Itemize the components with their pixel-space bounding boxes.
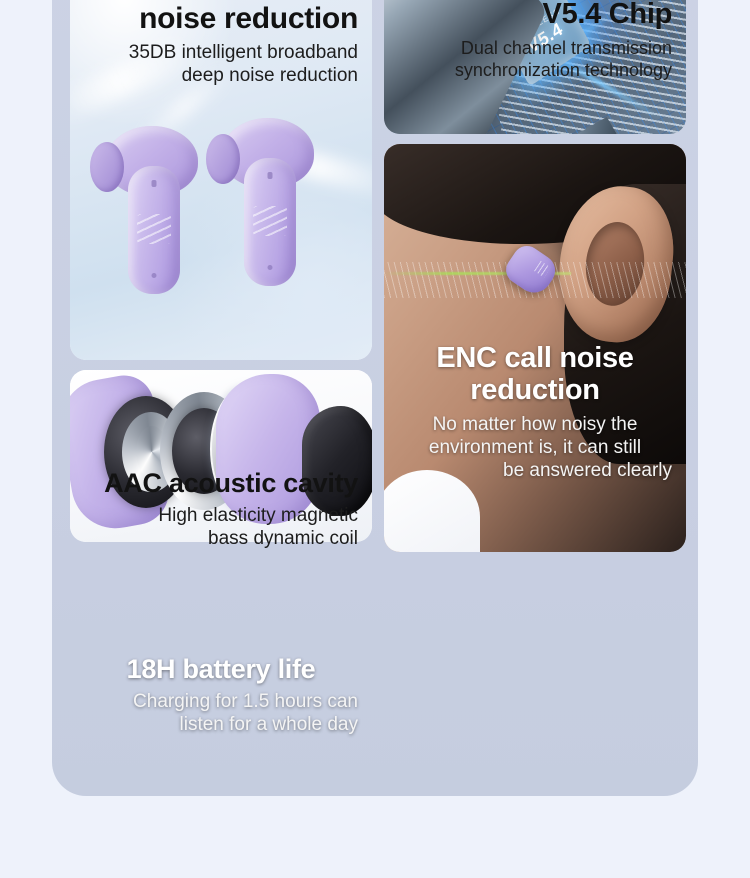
- anc-earbuds-photo: [70, 0, 372, 360]
- feature-column-right: WIRELESS V5.4 New Version V5.4 Chip: [384, 0, 686, 552]
- enc-ear-photo: [384, 144, 686, 552]
- shoulder: [384, 470, 480, 552]
- battery-title: 18H battery life: [127, 654, 316, 684]
- feature-card-chip[interactable]: WIRELESS V5.4 New Version V5.4 Chip: [384, 0, 686, 134]
- battery-subtitle-line1: Charging for 1.5 hours can: [84, 691, 358, 714]
- feature-column-left: ANC active noise reduction 35DB intellig…: [70, 0, 372, 552]
- ear-tip: [302, 406, 372, 516]
- feature-card-enc[interactable]: ENC call noise reduction No matter how n…: [384, 144, 686, 552]
- feature-card-aac[interactable]: AAC acoustic cavity High elasticity magn…: [70, 370, 372, 542]
- battery-copy: 18H battery life Charging for 1.5 hours …: [70, 654, 372, 737]
- feature-grid: ANC active noise reduction 35DB intellig…: [70, 0, 680, 788]
- chip-circuit-photo: WIRELESS V5.4: [384, 0, 686, 134]
- battery-subtitle-line2: listen for a whole day: [84, 714, 358, 737]
- aac-driver-photo: [70, 370, 372, 542]
- feature-card-anc[interactable]: ANC active noise reduction 35DB intellig…: [70, 0, 372, 360]
